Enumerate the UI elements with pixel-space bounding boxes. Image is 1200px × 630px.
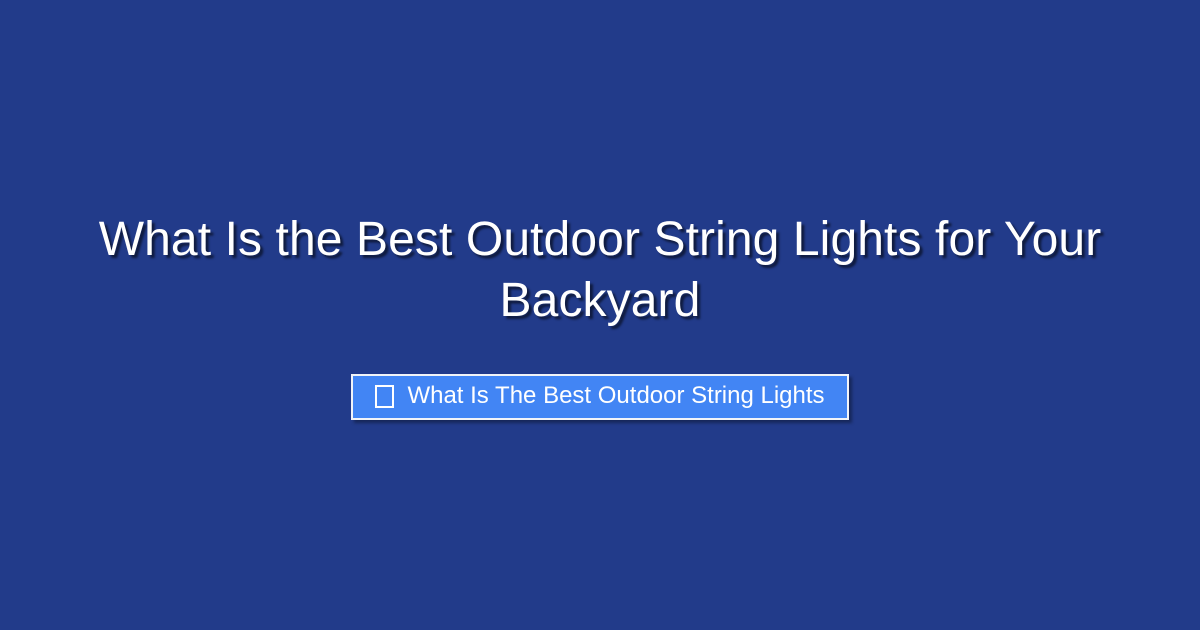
- page-title: What Is the Best Outdoor String Lights f…: [95, 210, 1105, 332]
- missing-glyph-box-icon: [375, 385, 394, 408]
- card-content: What Is the Best Outdoor String Lights f…: [0, 0, 1200, 630]
- social-share-card: What Is the Best Outdoor String Lights f…: [0, 0, 1200, 630]
- badge-row: What Is The Best Outdoor String Lights: [90, 374, 1110, 420]
- topic-badge-label: What Is The Best Outdoor String Lights: [407, 384, 824, 408]
- topic-badge[interactable]: What Is The Best Outdoor String Lights: [351, 374, 848, 420]
